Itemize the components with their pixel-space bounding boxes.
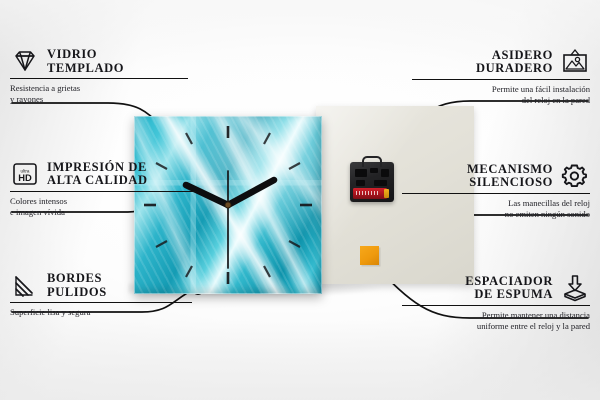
feature-title-line1: BORDES xyxy=(47,272,107,286)
feature-espaciador-de-espuma: ESPACIADOR DE ESPUMA Permite mantener un… xyxy=(402,274,590,331)
hanger-loop-icon xyxy=(362,156,382,167)
feature-subtitle: Permite una fácil instalación del reloj … xyxy=(412,84,590,105)
feature-title-line2: PULIDOS xyxy=(47,286,107,300)
movement-slot xyxy=(355,169,367,177)
feature-title-line2: ALTA CALIDAD xyxy=(47,174,148,188)
feature-heading-row: VIDRIO TEMPLADO xyxy=(10,48,188,75)
feature-title-line1: VIDRIO xyxy=(47,48,124,62)
feature-divider xyxy=(412,79,590,80)
feature-mecanismo-silencioso: MECANISMO SILENCIOSO Las manecillas del … xyxy=(402,162,590,219)
feature-title-line2: DE ESPUMA xyxy=(465,288,553,302)
feature-impresion-alta-calidad: ultra HD IMPRESIÓN DE ALTA CALIDAD Color… xyxy=(10,160,196,217)
foam-spacer xyxy=(360,246,379,265)
feature-heading-row: BORDES PULIDOS xyxy=(10,272,192,299)
feature-subtitle: Colores intensos e imagen vívida xyxy=(10,196,196,217)
polished-edges-icon xyxy=(10,273,40,299)
feature-heading-row: ultra HD IMPRESIÓN DE ALTA CALIDAD xyxy=(10,160,196,188)
svg-text:HD: HD xyxy=(18,172,32,183)
gear-icon xyxy=(560,162,590,190)
battery-terminal xyxy=(384,189,389,198)
framed-picture-icon xyxy=(560,48,590,76)
movement-slot xyxy=(374,180,387,186)
feature-subtitle: Las manecillas del reloj no emiten ningú… xyxy=(402,198,590,219)
feature-title-line1: ASIDERO xyxy=(476,49,553,63)
feature-title-line2: SILENCIOSO xyxy=(467,176,553,190)
feature-heading-row: MECANISMO SILENCIOSO xyxy=(402,162,590,190)
foam-spacer-icon xyxy=(560,274,590,302)
feature-divider xyxy=(402,193,590,194)
movement-slot xyxy=(381,169,389,177)
feature-heading-row: ESPACIADOR DE ESPUMA xyxy=(402,274,590,302)
feature-title-line1: IMPRESIÓN DE xyxy=(47,161,148,175)
feature-vidrio-templado: VIDRIO TEMPLADO Resistencia a grietas y … xyxy=(10,48,188,104)
feature-subtitle: Resistencia a grietas y rayones xyxy=(10,83,188,104)
feature-title-line2: TEMPLADO xyxy=(47,62,124,76)
ultra-hd-badge-icon: ultra HD xyxy=(10,160,40,188)
movement-slot xyxy=(356,180,365,186)
feature-subtitle: Permite mantener una distancia uniforme … xyxy=(402,310,590,331)
feature-divider xyxy=(402,305,590,306)
feature-divider xyxy=(10,302,192,303)
feature-divider xyxy=(10,78,188,79)
feature-asidero-duradero: ASIDERO DURADERO Permite una fácil insta… xyxy=(412,48,590,105)
feature-subtitle: Superficie lisa y segura xyxy=(10,307,192,317)
quartz-movement xyxy=(350,162,394,202)
feature-title-line1: MECANISMO xyxy=(467,163,553,177)
feature-divider xyxy=(10,191,196,192)
movement-slot xyxy=(370,168,378,173)
feature-title-line1: ESPACIADOR xyxy=(465,275,553,289)
infographic-canvas: VIDRIO TEMPLADO Resistencia a grietas y … xyxy=(0,0,600,400)
battery-label xyxy=(356,191,380,195)
feature-title-line2: DURADERO xyxy=(476,62,553,76)
diamond-icon xyxy=(10,49,40,75)
battery xyxy=(353,188,387,199)
feature-bordes-pulidos: BORDES PULIDOS Superficie lisa y segura xyxy=(10,272,192,318)
feature-heading-row: ASIDERO DURADERO xyxy=(412,48,590,76)
